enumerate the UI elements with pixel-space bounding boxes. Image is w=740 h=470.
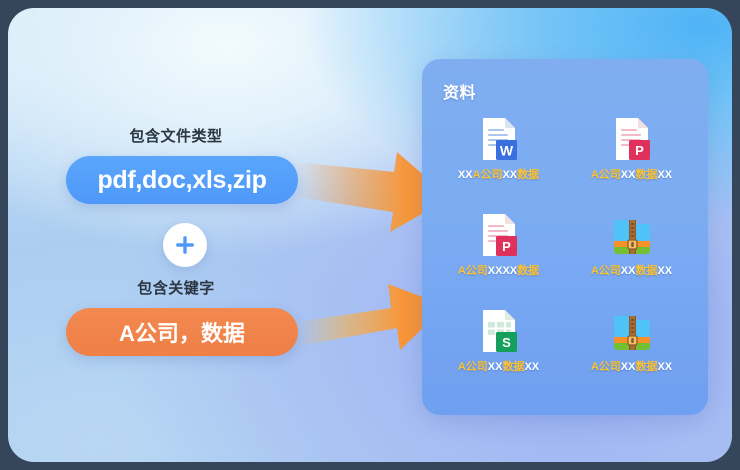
keyword-pill[interactable]: A公司，数据: [66, 308, 298, 356]
file-item[interactable]: A公司XX数据XX: [565, 207, 698, 303]
plain-text: XX: [621, 265, 636, 277]
zip-file-icon: [610, 211, 654, 259]
excel-badge-letter: S: [502, 335, 511, 350]
illustration-canvas: 包含文件类型 pdf,doc,xls,zip 包含关键字 A公司，数据: [0, 0, 740, 470]
plain-text: XX: [657, 265, 672, 277]
word-file-icon: W: [477, 115, 521, 163]
plain-text: XX: [657, 361, 672, 373]
excel-file-icon: S: [477, 307, 521, 355]
matched-text: 数据: [635, 361, 657, 373]
keyword-pill-label: A公司，数据: [119, 316, 245, 348]
file-type-pill-label: pdf,doc,xls,zip: [97, 166, 266, 195]
plus-badge: [163, 223, 207, 267]
zip-file-icon: [610, 307, 654, 355]
plain-text: XX: [488, 361, 503, 373]
file-results-grid: W XXA公司XX数据: [432, 111, 698, 399]
matched-text: 数据: [517, 265, 539, 277]
matched-text: 数据: [635, 265, 657, 277]
plain-text: XX: [621, 361, 636, 373]
file-item[interactable]: S A公司XX数据XX: [432, 303, 565, 399]
matched-text: A公司: [591, 169, 621, 181]
pdf-file-icon: P: [477, 211, 521, 259]
results-panel-title: 资料: [443, 79, 476, 103]
matched-text: A公司: [591, 265, 621, 277]
results-panel: 资料: [422, 59, 708, 415]
file-type-caption: 包含文件类型: [66, 125, 286, 146]
file-name: XXA公司XX数据: [458, 170, 539, 181]
matched-text: A公司: [591, 361, 621, 373]
file-name: A公司XX数据XX: [591, 170, 672, 181]
pdf-badge-letter: P: [635, 143, 644, 158]
matched-text: A公司: [473, 169, 503, 181]
file-name: A公司XX数据XX: [591, 266, 672, 277]
plain-text: XX: [621, 169, 636, 181]
file-name: A公司XXXX数据: [458, 266, 539, 277]
pdf-badge-letter: P: [502, 239, 511, 254]
file-item[interactable]: W XXA公司XX数据: [432, 111, 565, 207]
matched-text: A公司: [458, 361, 488, 373]
matched-text: 数据: [635, 169, 657, 181]
file-item[interactable]: P A公司XXXX数据: [432, 207, 565, 303]
file-item[interactable]: P A公司XX数据XX: [565, 111, 698, 207]
keyword-caption: 包含关键字: [66, 277, 286, 298]
plus-icon: [173, 233, 197, 257]
plain-text: XX: [502, 169, 517, 181]
file-name: A公司XX数据XX: [458, 362, 539, 373]
word-badge-letter: W: [499, 143, 513, 159]
plain-text: XX: [458, 169, 473, 181]
plain-text: XX: [524, 361, 539, 373]
rounded-card-background: 包含文件类型 pdf,doc,xls,zip 包含关键字 A公司，数据: [8, 8, 732, 462]
plain-text: XXXX: [488, 265, 517, 277]
file-item[interactable]: A公司XX数据XX: [565, 303, 698, 399]
pdf-file-icon: P: [610, 115, 654, 163]
matched-text: A公司: [458, 265, 488, 277]
matched-text: 数据: [517, 169, 539, 181]
plain-text: XX: [657, 169, 672, 181]
file-type-pill[interactable]: pdf,doc,xls,zip: [66, 156, 298, 204]
matched-text: 数据: [502, 361, 524, 373]
file-name: A公司XX数据XX: [591, 362, 672, 373]
